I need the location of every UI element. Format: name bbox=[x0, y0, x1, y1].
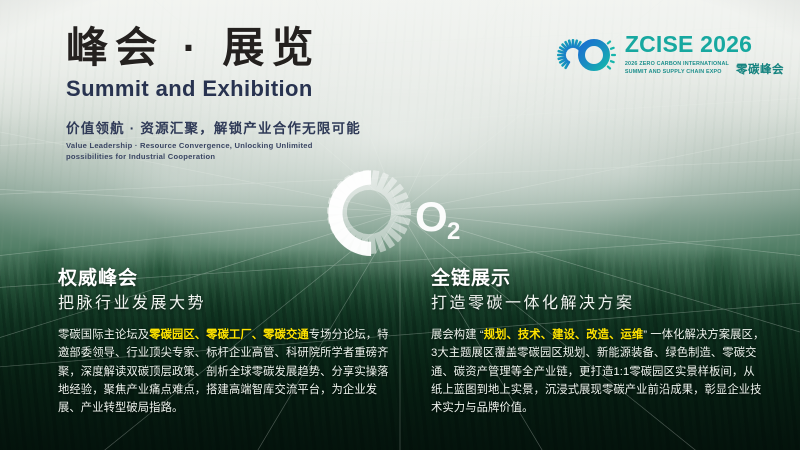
column-exhibition: 全链展示 打造零碳一体化解决方案 展会构建 “规划、技术、建设、改造、运维” 一… bbox=[411, 268, 800, 428]
column-subtitle: 打造零碳一体化解决方案 bbox=[431, 294, 766, 313]
brand-logo-lockup[interactable]: ZCISE 2026 2026 ZERO CARBON INTERNATIONA… bbox=[554, 29, 784, 81]
column-summit: 权威峰会 把脉行业发展大势 零碳国际主论坛及零碳园区、零碳工厂、零碳交通专场分论… bbox=[0, 268, 411, 428]
page-title-cn: 峰会 · 展览 bbox=[66, 26, 361, 71]
co2-subscript-2: 2 bbox=[447, 218, 460, 245]
logo-subtitle-en-line2: SUMMIT AND SUPPLY CHAIN EXPO bbox=[625, 69, 729, 77]
column-title: 全链展示 bbox=[431, 268, 766, 290]
logo-subtitle-en-line1: 2026 ZERO CARBON INTERNATIONAL bbox=[625, 61, 729, 69]
zcise-carbon-ring-logo-icon bbox=[554, 29, 616, 81]
content-columns: 权威峰会 把脉行业发展大势 零碳国际主论坛及零碳园区、零碳工厂、零碳交通专场分论… bbox=[0, 268, 800, 428]
poster-canvas: O 2 峰会 · 展览 Summit and Exhibition 价值领航 ·… bbox=[0, 0, 800, 450]
logo-subtitle-en: 2026 ZERO CARBON INTERNATIONAL SUMMIT AN… bbox=[625, 61, 729, 77]
column-body: 零碳国际主论坛及零碳园区、零碳工厂、零碳交通专场分论坛，特邀部委领导、行业顶尖专… bbox=[58, 326, 393, 417]
letter-c-shape bbox=[328, 170, 371, 256]
body-highlight: 规划、技术、建设、改造、运维 bbox=[484, 329, 644, 341]
title-block: 峰会 · 展览 Summit and Exhibition 价值领航 · 资源汇… bbox=[66, 26, 361, 162]
column-title: 权威峰会 bbox=[58, 268, 393, 290]
tagline-en: Value Leadership · Resource Convergence,… bbox=[66, 140, 318, 162]
co2-radial-c-icon: O 2 bbox=[305, 152, 495, 272]
tagline-cn: 价值领航 · 资源汇聚，解锁产业合作无限可能 bbox=[66, 117, 361, 137]
logo-subtitle-row: 2026 ZERO CARBON INTERNATIONAL SUMMIT AN… bbox=[625, 61, 784, 77]
column-body: 展会构建 “规划、技术、建设、改造、运维” 一体化解决方案展区，3大主题展区覆盖… bbox=[431, 326, 766, 417]
body-text: 零碳国际主论坛及 bbox=[58, 329, 149, 341]
co2-center-graphic: O 2 bbox=[305, 152, 495, 272]
body-highlight: 零碳园区、零碳工厂、零碳交通 bbox=[149, 329, 309, 341]
column-subtitle: 把脉行业发展大势 bbox=[58, 294, 393, 313]
logo-subtitle-cn: 零碳峰会 bbox=[736, 65, 784, 77]
header: 峰会 · 展览 Summit and Exhibition 价值领航 · 资源汇… bbox=[0, 0, 800, 150]
body-text: 展会构建 “ bbox=[431, 329, 484, 341]
logo-wordmark: ZCISE 2026 bbox=[625, 33, 784, 56]
co2-o-letter: O bbox=[415, 193, 448, 240]
page-title-en: Summit and Exhibition bbox=[66, 76, 361, 102]
logo-text-block: ZCISE 2026 2026 ZERO CARBON INTERNATIONA… bbox=[625, 33, 784, 77]
body-text: ” 一体化解决方案展区，3大主题展区覆盖零碳园区规划、新能源装备、绿色制造、零碳… bbox=[431, 329, 764, 414]
body-text: 专场分论坛，特邀部委领导、行业顶尖专家、标杆企业高管、科研院所学者重磅齐聚，深度… bbox=[58, 329, 389, 414]
